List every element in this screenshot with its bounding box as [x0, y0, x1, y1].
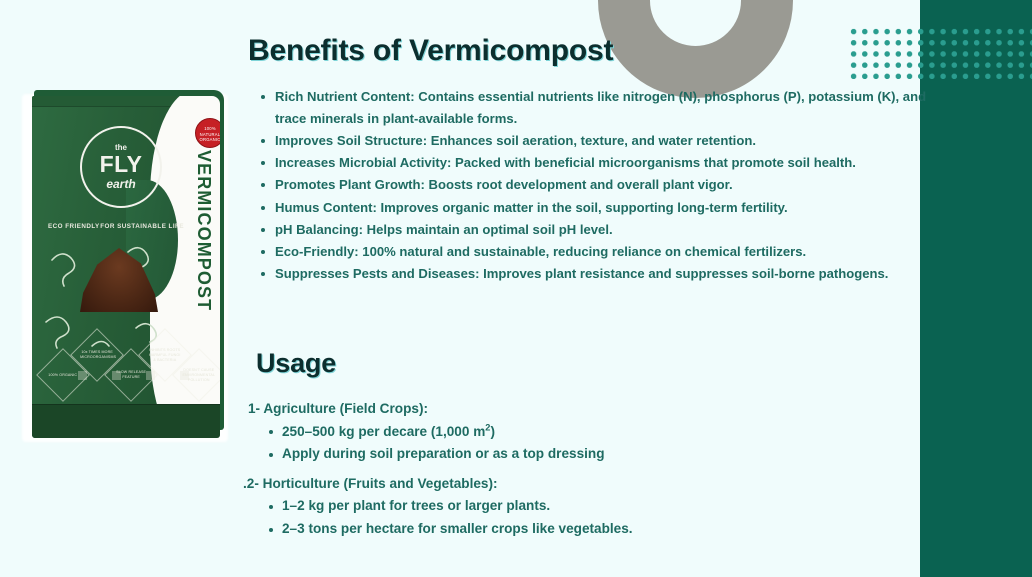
red-seal-badge: 100% NATURAL ORGANIC — [195, 118, 220, 148]
feature-badge-label: DOESN'T CAUSE ENVIRONMENTAL POLLUTION — [182, 368, 216, 383]
usage-agriculture-list: 250–500 kg per decare (1,000 m2) Apply d… — [266, 420, 908, 466]
bag-taglines: ECO FRIENDLY FOR SUSTAINABLE LIFE — [48, 223, 184, 230]
usage-item: 2–3 tons per hectare for smaller crops l… — [266, 518, 908, 541]
benefits-list: Rich Nutrient Content: Contains essentia… — [256, 86, 928, 286]
usage-horticulture-list: 1–2 kg per plant for trees or larger pla… — [266, 495, 908, 541]
tagline-sustainable-life: FOR SUSTAINABLE LIFE — [100, 223, 184, 230]
right-accent-panel — [920, 0, 1032, 577]
benefit-item: Rich Nutrient Content: Contains essentia… — [256, 86, 928, 129]
product-bag-image: VERMICOMPOST the FLY earth 100% NATURAL … — [22, 86, 240, 442]
feature-badge-label: 100% ORGANIC — [46, 373, 80, 378]
slide-canvas: VERMICOMPOST the FLY earth 100% NATURAL … — [0, 0, 1032, 577]
usage-item: 1–2 kg per plant for trees or larger pla… — [266, 495, 908, 518]
feature-badge-label: 10x TIMES MORE MICROORGANISMS — [80, 350, 114, 360]
usage-horticulture-heading: .2- Horticulture (Fruits and Vegetables)… — [243, 473, 908, 495]
benefit-item: Suppresses Pests and Diseases: Improves … — [256, 263, 928, 285]
bag-bottom-fold — [32, 404, 220, 438]
feature-badge-label: INHIBITS ROOTS HARMFUL FUNGI & BACTERIA — [148, 348, 182, 363]
logo-fly-text: FLY — [100, 153, 143, 176]
usage-agriculture-heading: 1- Agriculture (Field Crops): — [248, 398, 908, 420]
usage-item: 250–500 kg per decare (1,000 m2) — [266, 420, 908, 443]
usage-item-text: 250–500 kg per decare (1,000 m2) — [282, 424, 495, 439]
content-column: Benefits of Vermicompost Rich Nutrient C… — [248, 0, 920, 577]
feature-badge-row: 100% ORGANIC 10x TIMES MORE MICROORGANIS… — [40, 334, 220, 396]
usage-item: Apply during soil preparation or as a to… — [266, 443, 908, 466]
usage-block: 1- Agriculture (Field Crops): 250–500 kg… — [248, 398, 908, 541]
benefit-item: Improves Soil Structure: Enhances soil a… — [256, 130, 928, 152]
benefit-item: Increases Microbial Activity: Packed wit… — [256, 152, 928, 174]
benefit-item: Eco-Friendly: 100% natural and sustainab… — [256, 241, 928, 263]
feature-badge-label: SLOW RELEASE FEATURE — [114, 370, 148, 380]
brand-logo: the FLY earth — [80, 126, 162, 208]
benefit-item: Promotes Plant Growth: Boosts root devel… — [256, 174, 928, 196]
benefit-item: pH Balancing: Helps maintain an optimal … — [256, 219, 928, 241]
bag-front-panel: VERMICOMPOST the FLY earth 100% NATURAL … — [32, 96, 220, 438]
benefit-item: Humus Content: Improves organic matter i… — [256, 197, 928, 219]
logo-earth-text: earth — [106, 178, 135, 190]
benefits-title: Benefits of Vermicompost — [248, 34, 613, 68]
usage-title: Usage — [256, 348, 336, 379]
tagline-eco-friendly: ECO FRIENDLY — [48, 223, 100, 230]
